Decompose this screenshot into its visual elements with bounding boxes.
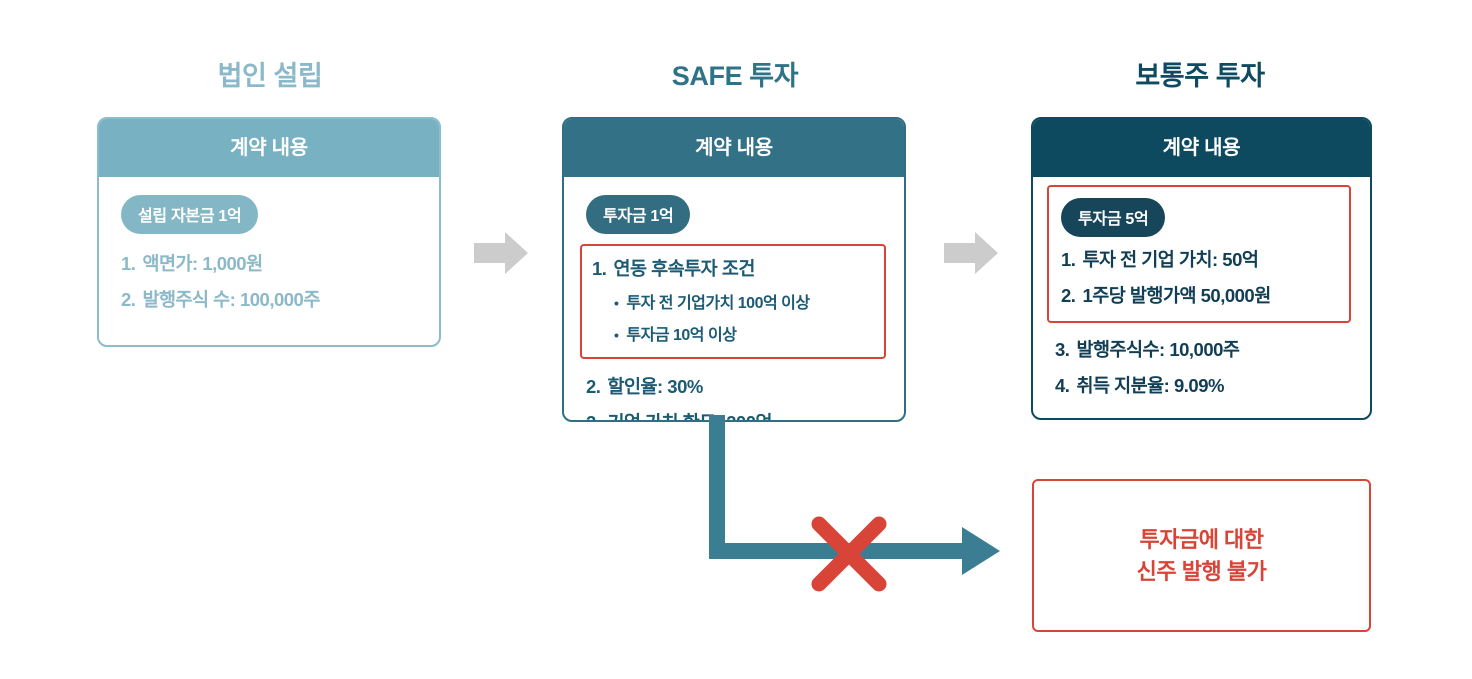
list-item: 1. 액면가: 1,000원 xyxy=(121,250,419,276)
bullet-text: 투자금 10억 이상 xyxy=(626,321,736,345)
flow-arrow-right-icon-1 xyxy=(474,232,528,279)
badge-investment-amount: 투자금 5억 xyxy=(1061,198,1165,237)
list-item: 1. 연동 후속투자 조건 xyxy=(592,255,874,281)
warning-line-2: 신주 발행 불가 xyxy=(1137,556,1267,588)
diagram-canvas: 법인 설립 SAFE 투자 보통주 투자 계약 내용 설립 자본금 1억 1. … xyxy=(0,0,1472,679)
list-item: 2. 1주당 발행가액 50,000원 xyxy=(1061,282,1339,308)
list-text: 발행주식 수: 100,000주 xyxy=(142,286,319,312)
list-item: 2. 할인율: 30% xyxy=(586,373,884,399)
flow-arrow-right-icon-2 xyxy=(944,232,998,279)
card-incorporation: 계약 내용 설립 자본금 1억 1. 액면가: 1,000원 2. 발행주식 수… xyxy=(97,117,441,347)
warning-line-1: 투자금에 대한 xyxy=(1139,524,1263,556)
card-safe-investment: 계약 내용 투자금 1억 1. 연동 후속투자 조건 • 투자 전 기업가치 1… xyxy=(562,117,906,422)
warning-box-no-new-shares: 투자금에 대한 신주 발행 불가 xyxy=(1032,479,1371,632)
cross-out-x-icon xyxy=(808,513,890,600)
list-item: 2. 발행주식 수: 100,000주 xyxy=(121,286,419,312)
list-marker: 3. xyxy=(586,412,600,422)
list-item: 4. 취득 지분율: 9.09% xyxy=(1055,372,1350,398)
highlight-box-valuation-and-price: 투자금 5억 1. 투자 전 기업 가치: 50억 2. 1주당 발행가액 50… xyxy=(1047,185,1351,323)
bullet-text: 투자 전 기업가치 100억 이상 xyxy=(626,289,809,313)
card-body-safe-investment: 투자금 1억 1. 연동 후속투자 조건 • 투자 전 기업가치 100억 이상… xyxy=(564,177,904,422)
bullet-dot-icon: • xyxy=(614,296,618,310)
list-item: 3. 발행주식수: 10,000주 xyxy=(1055,336,1350,362)
badge-investment-amount: 투자금 1억 xyxy=(586,195,690,234)
list-text: 연동 후속투자 조건 xyxy=(613,255,754,281)
highlight-box-linked-followon-conditions: 1. 연동 후속투자 조건 • 투자 전 기업가치 100억 이상 • 투자금 … xyxy=(580,244,886,359)
card-header-incorporation: 계약 내용 xyxy=(99,119,439,177)
card-common-stock-investment: 계약 내용 투자금 5억 1. 투자 전 기업 가치: 50억 2. 1주당 발… xyxy=(1031,117,1372,420)
badge-founding-capital: 설립 자본금 1억 xyxy=(121,195,258,234)
card-header-common-stock-investment: 계약 내용 xyxy=(1033,119,1370,177)
column-title-safe-investment: SAFE 투자 xyxy=(565,54,905,93)
list-text: 투자 전 기업 가치: 50억 xyxy=(1082,246,1258,272)
list-text: 할인율: 30% xyxy=(607,373,702,399)
list-text: 액면가: 1,000원 xyxy=(142,250,262,276)
list-text: 취득 지분율: 9.09% xyxy=(1076,372,1224,398)
list-text: 1주당 발행가액 50,000원 xyxy=(1082,282,1270,308)
column-title-common-stock-investment: 보통주 투자 xyxy=(1030,54,1370,93)
bullet-dot-icon: • xyxy=(614,328,618,342)
list-item: 1. 투자 전 기업 가치: 50억 xyxy=(1061,246,1339,272)
card-body-common-stock-investment: 투자금 5억 1. 투자 전 기업 가치: 50억 2. 1주당 발행가액 50… xyxy=(1033,177,1370,412)
list-marker: 2. xyxy=(1061,285,1075,307)
list-marker: 1. xyxy=(592,258,606,280)
list-marker: 1. xyxy=(1061,249,1075,271)
card-header-safe-investment: 계약 내용 xyxy=(564,119,904,177)
bullet-item: • 투자 전 기업가치 100억 이상 xyxy=(592,289,874,313)
list-text: 발행주식수: 10,000주 xyxy=(1076,336,1239,362)
list-marker: 3. xyxy=(1055,339,1069,361)
column-title-incorporation: 법인 설립 xyxy=(100,54,440,93)
list-marker: 2. xyxy=(121,289,135,311)
list-marker: 1. xyxy=(121,253,135,275)
bullet-item: • 투자금 10억 이상 xyxy=(592,321,874,345)
card-body-incorporation: 설립 자본금 1억 1. 액면가: 1,000원 2. 발행주식 수: 100,… xyxy=(99,177,439,326)
list-marker: 2. xyxy=(586,376,600,398)
list-marker: 4. xyxy=(1055,375,1069,397)
